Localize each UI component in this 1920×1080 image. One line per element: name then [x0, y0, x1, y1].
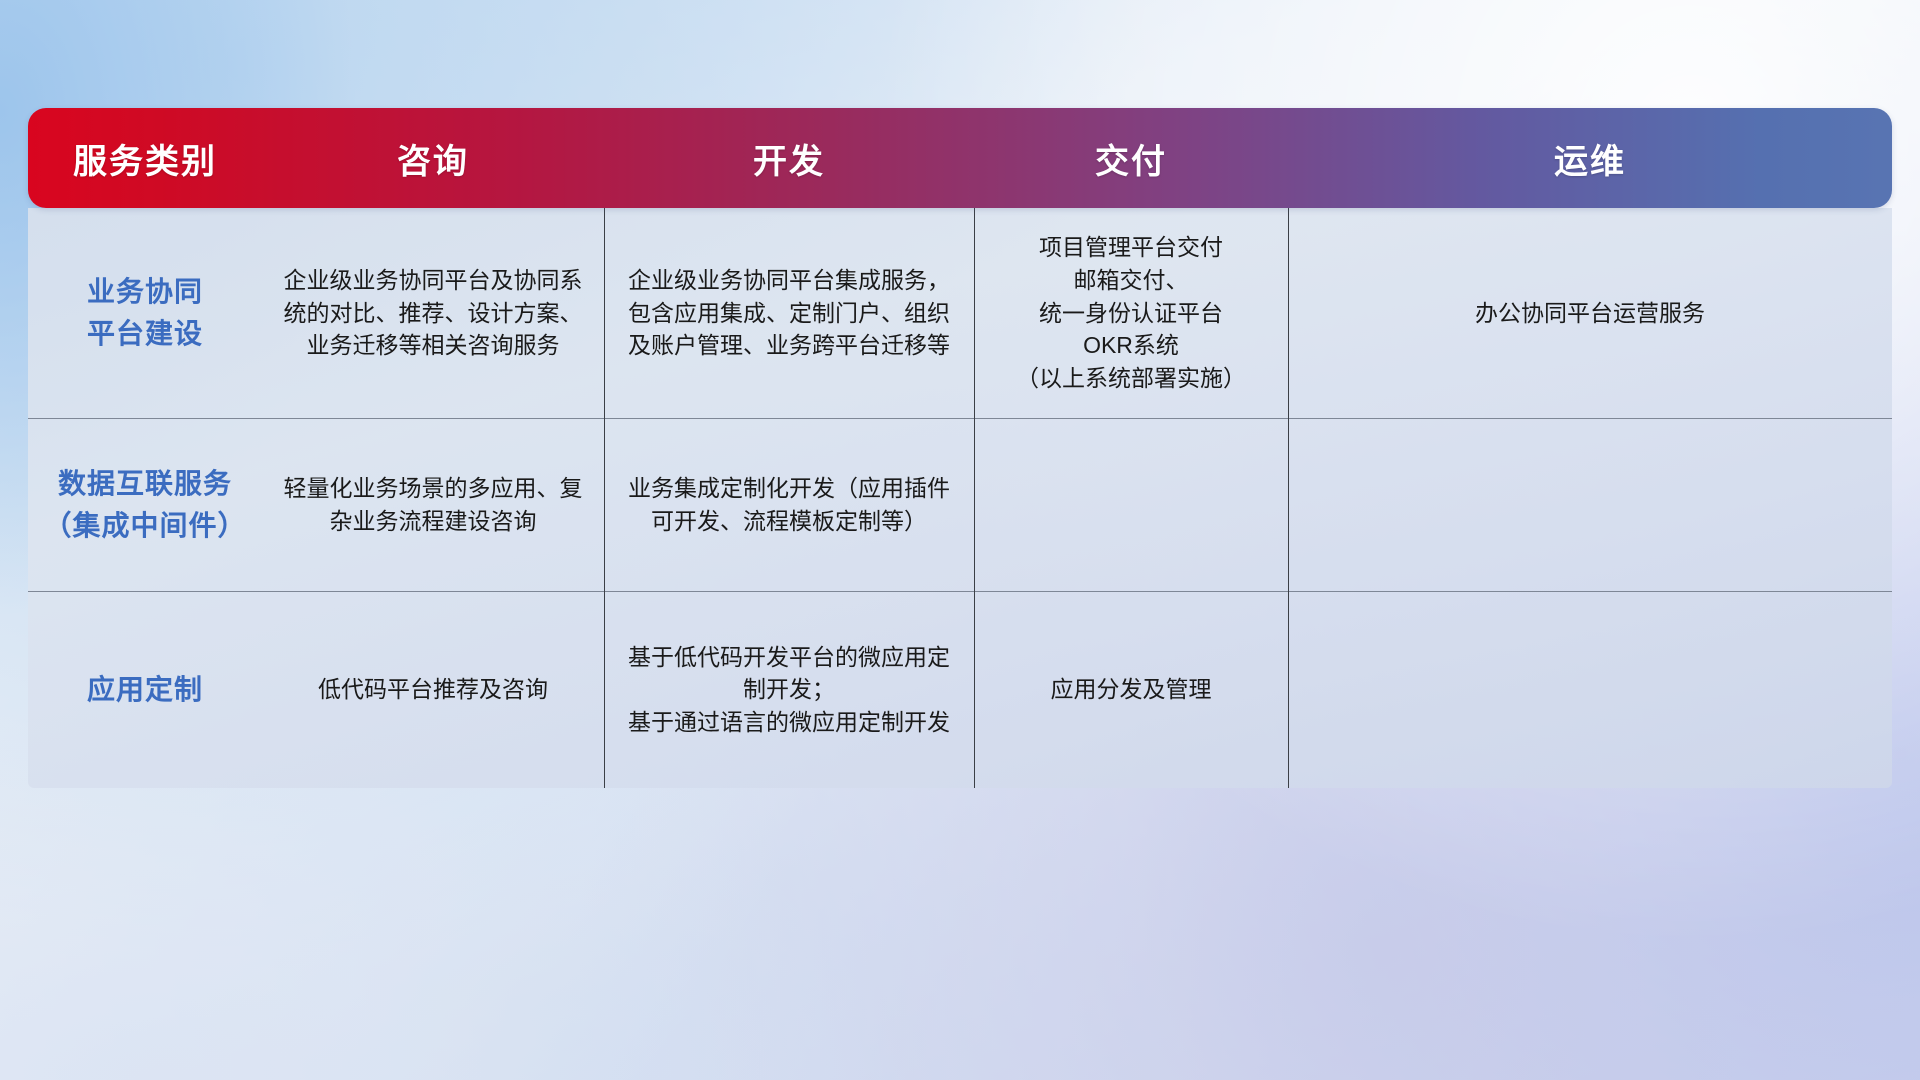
row-category-label: 应用定制	[28, 591, 262, 788]
column-header-development: 开发	[604, 108, 974, 208]
column-header-operations: 运维	[1288, 108, 1892, 208]
cell-delivery: 应用分发及管理	[974, 591, 1288, 788]
cell-consulting: 轻量化业务场景的多应用、复 杂业务流程建设咨询	[262, 418, 604, 591]
cell-development: 企业级业务协同平台集成服务， 包含应用集成、定制门户、组织 及账户管理、业务跨平…	[604, 208, 974, 418]
cell-development: 基于低代码开发平台的微应用定 制开发； 基于通过语言的微应用定制开发	[604, 591, 974, 788]
table-row: 数据互联服务 （集成中间件） 轻量化业务场景的多应用、复 杂业务流程建设咨询 业…	[28, 418, 1892, 591]
cell-delivery	[974, 418, 1288, 591]
grid-line-delivery-operations	[1288, 208, 1289, 788]
table-body: 业务协同 平台建设 企业级业务协同平台及协同系 统的对比、推荐、设计方案、 业务…	[28, 208, 1892, 788]
row-category-label: 业务协同 平台建设	[28, 208, 262, 418]
column-header-delivery: 交付	[974, 108, 1288, 208]
cell-delivery: 项目管理平台交付 邮箱交付、 统一身份认证平台 OKR系统 （以上系统部署实施）	[974, 208, 1288, 418]
cell-consulting: 低代码平台推荐及咨询	[262, 591, 604, 788]
column-header-category: 服务类别	[28, 108, 262, 208]
row-category-label: 数据互联服务 （集成中间件）	[28, 418, 262, 591]
grid-line-consulting-development	[604, 208, 605, 788]
cell-operations	[1288, 591, 1892, 788]
cell-operations: 办公协同平台运营服务	[1288, 208, 1892, 418]
table-header-row: 服务类别 咨询 开发 交付 运维	[28, 108, 1892, 208]
table-row: 业务协同 平台建设 企业级业务协同平台及协同系 统的对比、推荐、设计方案、 业务…	[28, 208, 1892, 418]
cell-development: 业务集成定制化开发（应用插件 可开发、流程模板定制等）	[604, 418, 974, 591]
cell-consulting: 企业级业务协同平台及协同系 统的对比、推荐、设计方案、 业务迁移等相关咨询服务	[262, 208, 604, 418]
table-row: 应用定制 低代码平台推荐及咨询 基于低代码开发平台的微应用定 制开发； 基于通过…	[28, 591, 1892, 788]
column-header-consulting: 咨询	[262, 108, 604, 208]
cell-operations	[1288, 418, 1892, 591]
grid-line-development-delivery	[974, 208, 975, 788]
service-category-table: 服务类别 咨询 开发 交付 运维 业务协同 平台建设 企业级业务协同平台及协同系…	[28, 108, 1892, 953]
